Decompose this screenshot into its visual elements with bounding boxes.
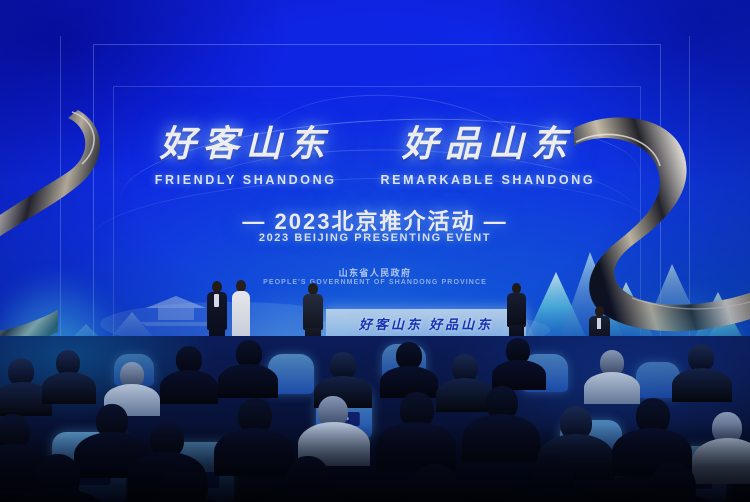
event-stage-photo: 好客山东 FRIENDLY SHANDONG 好品山东 REMARKABLE S… bbox=[0, 0, 750, 502]
photo-tone-overlay bbox=[0, 0, 750, 502]
